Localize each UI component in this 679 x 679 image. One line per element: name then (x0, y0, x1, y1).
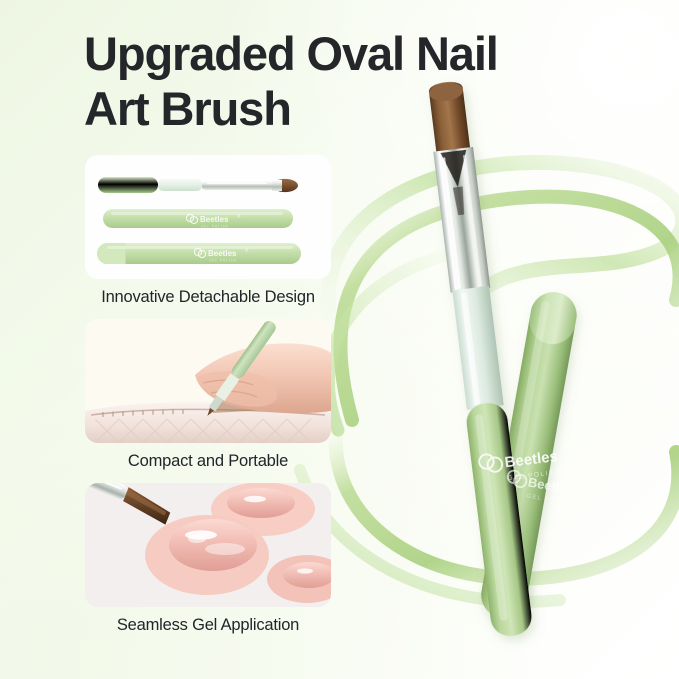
feature-image-detachable-design: Beetles ® GEL POLISH (85, 155, 331, 279)
cap-barrel-part: Beetles ® GEL POLISH (97, 243, 301, 264)
feature-item-compact-portable[interactable]: Compact and Portable (85, 319, 331, 477)
feature-caption-gel-application: Seamless Gel Application (85, 607, 331, 641)
feature-caption-compact-portable: Compact and Portable (85, 443, 331, 477)
feature-item-gel-application[interactable]: Seamless Gel Application (85, 483, 331, 641)
svg-text:Beetles: Beetles (208, 249, 237, 258)
svg-text:Beetles: Beetles (200, 215, 229, 224)
assembled-brush-part (98, 177, 298, 193)
product-poster: Beetles GEL POLISH Beetles GEL POLISH Up… (0, 0, 679, 679)
feature-item-detachable-design[interactable]: Beetles ® GEL POLISH (85, 155, 331, 313)
handle-barrel-part: Beetles ® GEL POLISH (103, 209, 293, 229)
svg-text:GEL POLISH: GEL POLISH (526, 493, 573, 507)
svg-text:Beetles: Beetles (504, 448, 559, 471)
feature-caption-detachable-design: Innovative Detachable Design (85, 279, 331, 313)
feature-image-gel-application (85, 483, 331, 607)
svg-text:GEL POLISH: GEL POLISH (201, 225, 229, 229)
feature-image-compact-portable (85, 319, 331, 443)
svg-text:GEL POLISH: GEL POLISH (507, 469, 561, 483)
svg-text:GEL POLISH: GEL POLISH (209, 259, 237, 263)
feature-list: Beetles ® GEL POLISH (85, 155, 331, 647)
page-title: Upgraded Oval Nail Art Brush (84, 26, 604, 137)
svg-text:Beetles: Beetles (527, 474, 575, 497)
